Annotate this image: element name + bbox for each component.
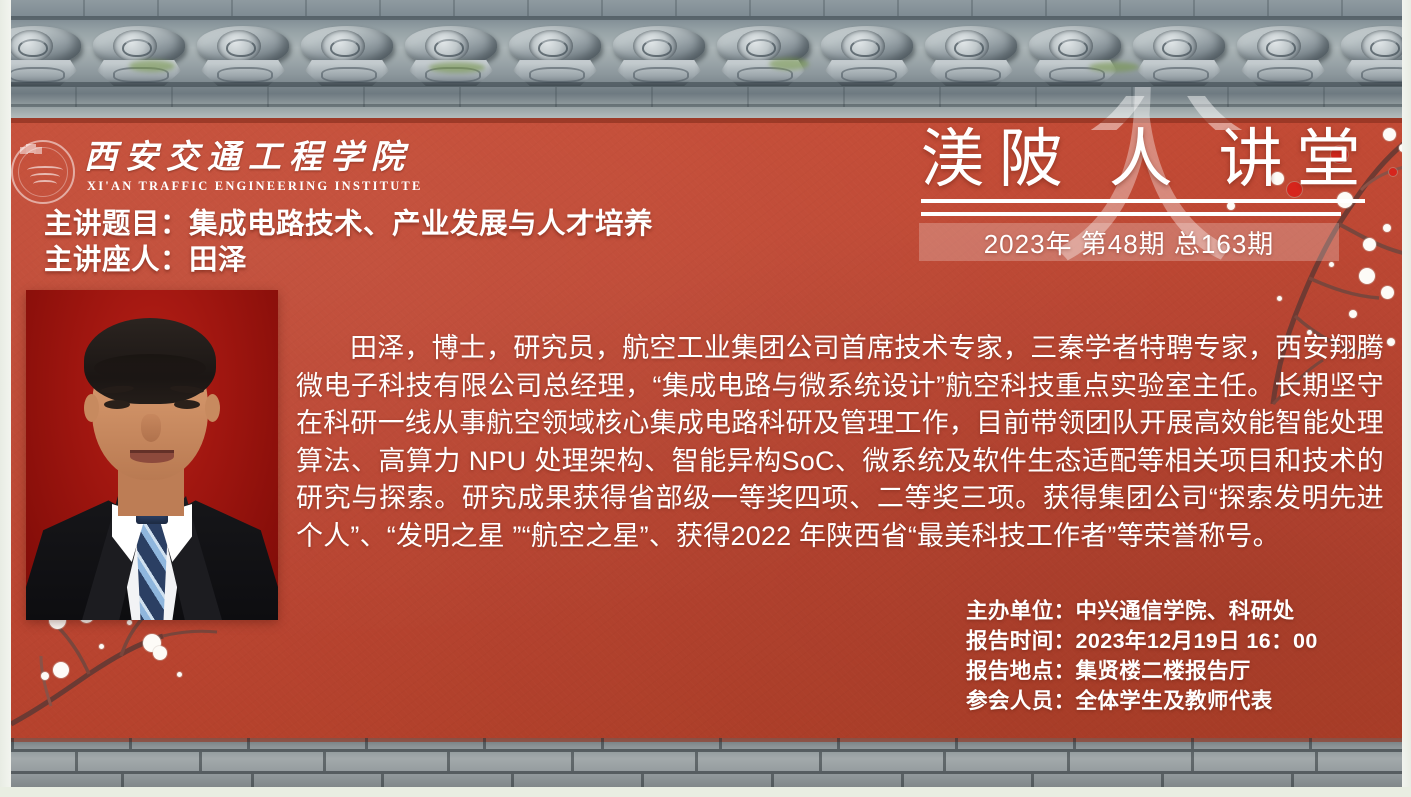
brick-wall-base: [11, 738, 1402, 790]
roof-tile-icon: [1231, 26, 1335, 88]
roof-tile-icon: [503, 26, 607, 88]
lecture-announcement-poster: 人 西安交通工程学院 XI'AN TRAFFIC ENGINEERING INS…: [0, 0, 1411, 797]
roof-tile-icon: [1335, 26, 1402, 88]
series-banner: 人 渼陂 人 讲堂 2023年 第48期 总163期: [917, 126, 1387, 261]
poster-frame-bottom: [0, 787, 1411, 797]
headline-block: 主讲题目：集成电路技术、产业发展与人才培养 主讲座人：田泽: [44, 206, 653, 278]
moss-patch: [129, 60, 175, 72]
roof-tile-icon: [295, 26, 399, 88]
moss-patch: [769, 58, 809, 70]
roof-tile-icon: [399, 26, 503, 88]
lecture-speaker: 主讲座人：田泽: [44, 242, 653, 278]
moss-patch: [429, 62, 485, 73]
poster-frame-left: [0, 0, 11, 797]
banner-divider: [917, 199, 1387, 216]
issue-text: 2023年 第48期 总163期: [984, 224, 1275, 261]
university-gate-emblem-icon: [11, 140, 75, 204]
roof-brick-row-top: [9, 0, 1402, 16]
school-name-en: XI'AN TRAFFIC ENGINEERING INSTITUTE: [87, 179, 423, 194]
issue-badge: 2023年 第48期 总163期: [919, 223, 1339, 261]
poster-frame-right: [1402, 0, 1411, 797]
roof-mortar-line: [9, 16, 1402, 20]
roof-tile-icon: [711, 26, 815, 88]
event-time: 报告时间：2023年12月19日 16：00: [966, 626, 1318, 656]
event-organizer: 主办单位：中兴通信学院、科研处: [966, 596, 1318, 626]
event-location: 报告地点：集贤楼二楼报告厅: [966, 656, 1318, 686]
speaker-portrait: [26, 290, 278, 620]
roof-tile-icon: [815, 26, 919, 88]
event-attendees: 参会人员：全体学生及教师代表: [966, 686, 1318, 716]
roof-tile-icon: [919, 26, 1023, 88]
school-wordmark: 西安交通工程学院 XI'AN TRAFFIC ENGINEERING INSTI…: [84, 141, 423, 194]
school-name-cn: 西安交通工程学院: [84, 141, 423, 176]
lecture-topic: 主讲题目：集成电路技术、产业发展与人才培养: [44, 206, 653, 242]
roof-tile-icon: [191, 26, 295, 88]
event-info-block: 主办单位：中兴通信学院、科研处 报告时间：2023年12月19日 16：00 报…: [966, 596, 1318, 716]
moss-patch: [1089, 62, 1139, 72]
speaker-bio-text: 田泽，博士，研究员，航空工业集团公司首席技术专家，三秦学者特聘专家，西安翔腾微电…: [296, 330, 1384, 555]
roof-tile-icon: [607, 26, 711, 88]
speaker-bio-block: 田泽，博士，研究员，航空工业集团公司首席技术专家，三秦学者特聘专家，西安翔腾微电…: [296, 330, 1384, 555]
series-title: 渼陂 人 讲堂: [917, 126, 1387, 193]
roof-tile-icon: [87, 26, 191, 88]
roof-tile-icon: [9, 26, 87, 88]
